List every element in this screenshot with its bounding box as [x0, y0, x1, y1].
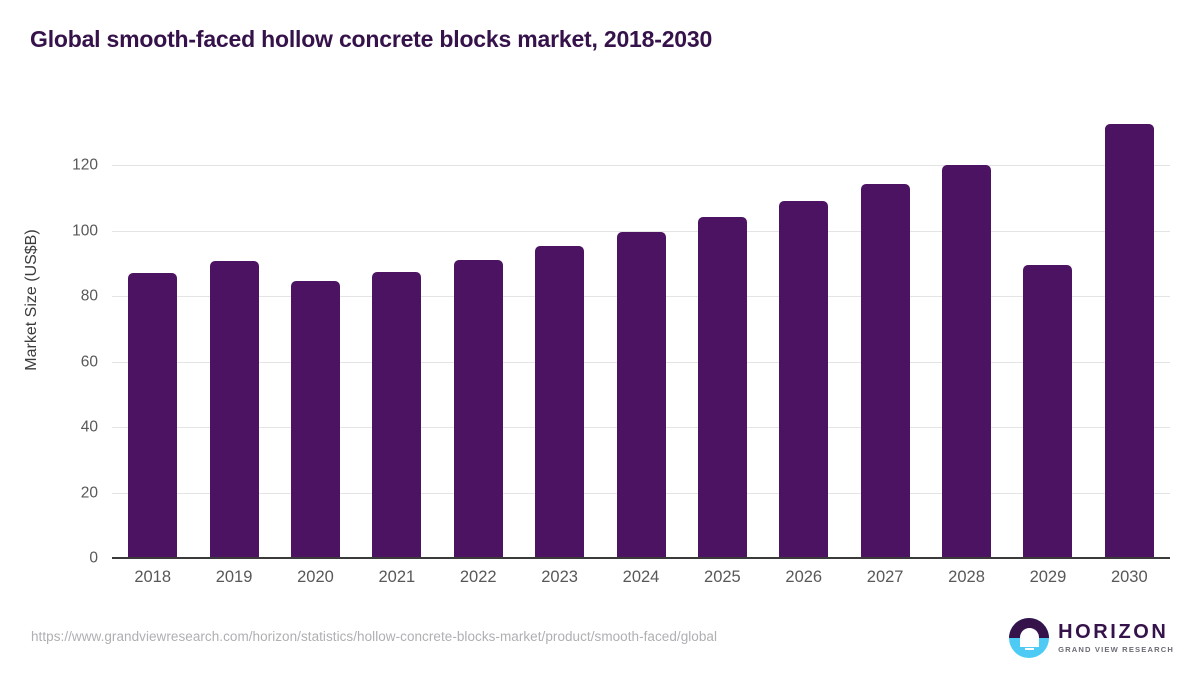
- plot-area: [112, 100, 1170, 558]
- logo-line-upper: [1022, 643, 1037, 645]
- horizon-logo-icon: [1009, 618, 1049, 658]
- bar[interactable]: [942, 165, 991, 558]
- y-axis-tick-labels: 020406080100120: [0, 100, 98, 558]
- logo-line-lower: [1025, 648, 1034, 650]
- bar[interactable]: [779, 201, 828, 558]
- x-tick-label: 2027: [867, 568, 904, 587]
- x-tick-label: 2026: [785, 568, 822, 587]
- logo-wordmark: HORIZON: [1058, 622, 1174, 643]
- horizon-logo: HORIZON GRAND VIEW RESEARCH: [1009, 617, 1174, 659]
- bar[interactable]: [210, 261, 259, 558]
- x-tick-label: 2023: [541, 568, 578, 587]
- x-tick-label: 2025: [704, 568, 741, 587]
- y-tick-label: 60: [0, 354, 98, 370]
- x-tick-label: 2020: [297, 568, 334, 587]
- chart-page: Global smooth-faced hollow concrete bloc…: [0, 0, 1200, 675]
- bar[interactable]: [861, 184, 910, 558]
- logo-tagline: GRAND VIEW RESEARCH: [1058, 645, 1174, 654]
- y-tick-label: 0: [0, 550, 98, 566]
- y-tick-label: 120: [0, 158, 98, 174]
- x-tick-label: 2030: [1111, 568, 1148, 587]
- bar[interactable]: [128, 273, 177, 558]
- logo-text-block: HORIZON GRAND VIEW RESEARCH: [1058, 622, 1174, 654]
- source-url[interactable]: https://www.grandviewresearch.com/horizo…: [31, 629, 717, 644]
- chart-container: Market Size (US$B) 020406080100120 20182…: [0, 0, 1200, 675]
- y-tick-label: 100: [0, 223, 98, 239]
- bar[interactable]: [454, 260, 503, 558]
- x-axis-tick-labels: 2018201920202021202220232024202520262027…: [112, 568, 1170, 598]
- gridline: [112, 165, 1170, 166]
- x-tick-label: 2019: [216, 568, 253, 587]
- y-tick-label: 80: [0, 289, 98, 305]
- bar[interactable]: [698, 217, 747, 558]
- x-tick-label: 2029: [1030, 568, 1067, 587]
- bar[interactable]: [617, 232, 666, 558]
- y-tick-label: 20: [0, 485, 98, 501]
- x-tick-label: 2028: [948, 568, 985, 587]
- x-tick-label: 2021: [378, 568, 415, 587]
- x-tick-label: 2024: [623, 568, 660, 587]
- bar[interactable]: [535, 246, 584, 558]
- bar[interactable]: [291, 281, 340, 558]
- bar[interactable]: [372, 272, 421, 558]
- x-tick-label: 2022: [460, 568, 497, 587]
- bar[interactable]: [1023, 265, 1072, 558]
- bar[interactable]: [1105, 124, 1154, 558]
- x-tick-label: 2018: [134, 568, 171, 587]
- y-tick-label: 40: [0, 419, 98, 435]
- x-axis-line: [112, 557, 1170, 559]
